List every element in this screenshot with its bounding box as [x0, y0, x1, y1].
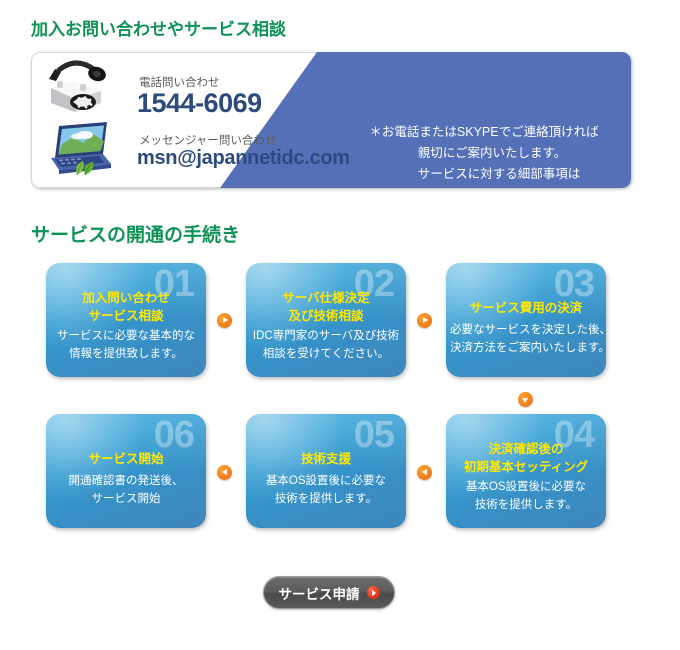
- contact-banner: 電話問い合わせ 1544-6069: [31, 52, 631, 188]
- contact-note-line-2: 親切にご案内いたします。: [331, 143, 631, 164]
- chevron-left-icon: [217, 465, 232, 480]
- service-apply-button[interactable]: サービス申請: [263, 576, 395, 609]
- step-title: 技術支援: [246, 450, 406, 468]
- step-body-line: サービス開始: [50, 490, 202, 508]
- step-body-line: サービスに必要な基本的な: [50, 327, 202, 345]
- step-title: 加入問い合わせ サービス相談: [46, 289, 206, 325]
- step-body-line: 情報を提供致します。: [50, 345, 202, 363]
- step-title: サービス開始: [46, 450, 206, 468]
- chevron-right-icon: [417, 313, 432, 328]
- contact-note-line-1: ＊お電話またはSKYPEでご連絡頂ければ: [331, 122, 631, 143]
- step-title-line: サービス相談: [46, 307, 206, 325]
- step-body-line: 技術を提供します。: [450, 496, 602, 514]
- step-number: 03: [554, 265, 594, 303]
- laptop-icon: [41, 118, 115, 180]
- step-body: 開通確認書の発送後、 サービス開始: [50, 472, 202, 508]
- step-title-line: 及び技術相談: [246, 307, 406, 325]
- step-title-line: 技術支援: [246, 450, 406, 468]
- step-body-line: 相談を受けてください。: [250, 345, 402, 363]
- chevron-right-icon: [217, 313, 232, 328]
- step-title-line: 初期基本セッティング: [446, 458, 606, 476]
- step-title-line: サービス費用の決済: [446, 299, 606, 317]
- step-body-line: 決済方法をご案内いたします。: [450, 339, 602, 357]
- step-title: サービス費用の決済: [446, 299, 606, 317]
- step-body: 基本OS設置後に必要な 技術を提供します。: [250, 472, 402, 508]
- step-body: 基本OS設置後に必要な 技術を提供します。: [450, 478, 602, 514]
- step-title-line: サーバ仕様決定: [246, 289, 406, 307]
- contact-details: 電話問い合わせ 1544-6069: [31, 52, 351, 188]
- step-card-02[interactable]: 02 サーバ仕様決定 及び技術相談 IDC専門家のサーバ及び技術 相談を受けてく…: [246, 263, 406, 377]
- step-number: 05: [354, 416, 394, 454]
- step-card-05[interactable]: 05 技術支援 基本OS設置後に必要な 技術を提供します。: [246, 414, 406, 528]
- step-body-line: IDC専門家のサーバ及び技術: [250, 327, 402, 345]
- step-card-01[interactable]: 01 加入問い合わせ サービス相談 サービスに必要な基本的な 情報を提供致します…: [46, 263, 206, 377]
- phone-number: 1544-6069: [137, 88, 262, 119]
- messenger-label: メッセンジャー問い合わせ: [139, 132, 276, 148]
- step-body-line: 基本OS設置後に必要な: [250, 472, 402, 490]
- step-title-line: サービス開始: [46, 450, 206, 468]
- step-title: サーバ仕様決定 及び技術相談: [246, 289, 406, 325]
- messenger-address: msn@japannetidc.com: [137, 147, 350, 170]
- step-number: 06: [154, 416, 194, 454]
- play-arrow-icon: [367, 586, 380, 599]
- step-card-03[interactable]: 03 サービス費用の決済 必要なサービスを決定した後、 決済方法をご案内いたしま…: [446, 263, 606, 377]
- step-title: 決済確認後の 初期基本セッティング: [446, 440, 606, 476]
- step-card-04[interactable]: 04 決済確認後の 初期基本セッティング 基本OS設置後に必要な 技術を提供しま…: [446, 414, 606, 528]
- step-card-06[interactable]: 06 サービス開始 開通確認書の発送後、 サービス開始: [46, 414, 206, 528]
- contact-note: ＊お電話またはSKYPEでご連絡頂ければ 親切にご案内いたします。 サービスに対…: [331, 122, 631, 188]
- service-apply-button-label: サービス申請: [279, 583, 360, 603]
- contact-note-line-4: IDC専門家の相談を受けてください: [331, 185, 631, 188]
- chevron-left-icon: [417, 465, 432, 480]
- step-title-line: 加入問い合わせ: [46, 289, 206, 307]
- page-title-process: サービスの開通の手続き: [31, 220, 240, 247]
- step-body-line: 開通確認書の発送後、: [50, 472, 202, 490]
- step-body: サービスに必要な基本的な 情報を提供致します。: [50, 327, 202, 363]
- chevron-down-icon: [518, 392, 533, 407]
- rotary-telephone-icon: [39, 58, 113, 120]
- step-body: IDC専門家のサーバ及び技術 相談を受けてください。: [250, 327, 402, 363]
- step-body-line: 必要なサービスを決定した後、: [450, 321, 602, 339]
- step-body-line: 基本OS設置後に必要な: [450, 478, 602, 496]
- service-process-page: 加入お問い合わせやサービス相談: [0, 0, 680, 650]
- step-body: 必要なサービスを決定した後、 決済方法をご案内いたします。: [450, 321, 602, 357]
- step-body-line: 技術を提供します。: [250, 490, 402, 508]
- page-title-contact: 加入お問い合わせやサービス相談: [31, 15, 286, 40]
- contact-note-line-3: サービスに対する細部事項は: [331, 164, 631, 185]
- step-title-line: 決済確認後の: [446, 440, 606, 458]
